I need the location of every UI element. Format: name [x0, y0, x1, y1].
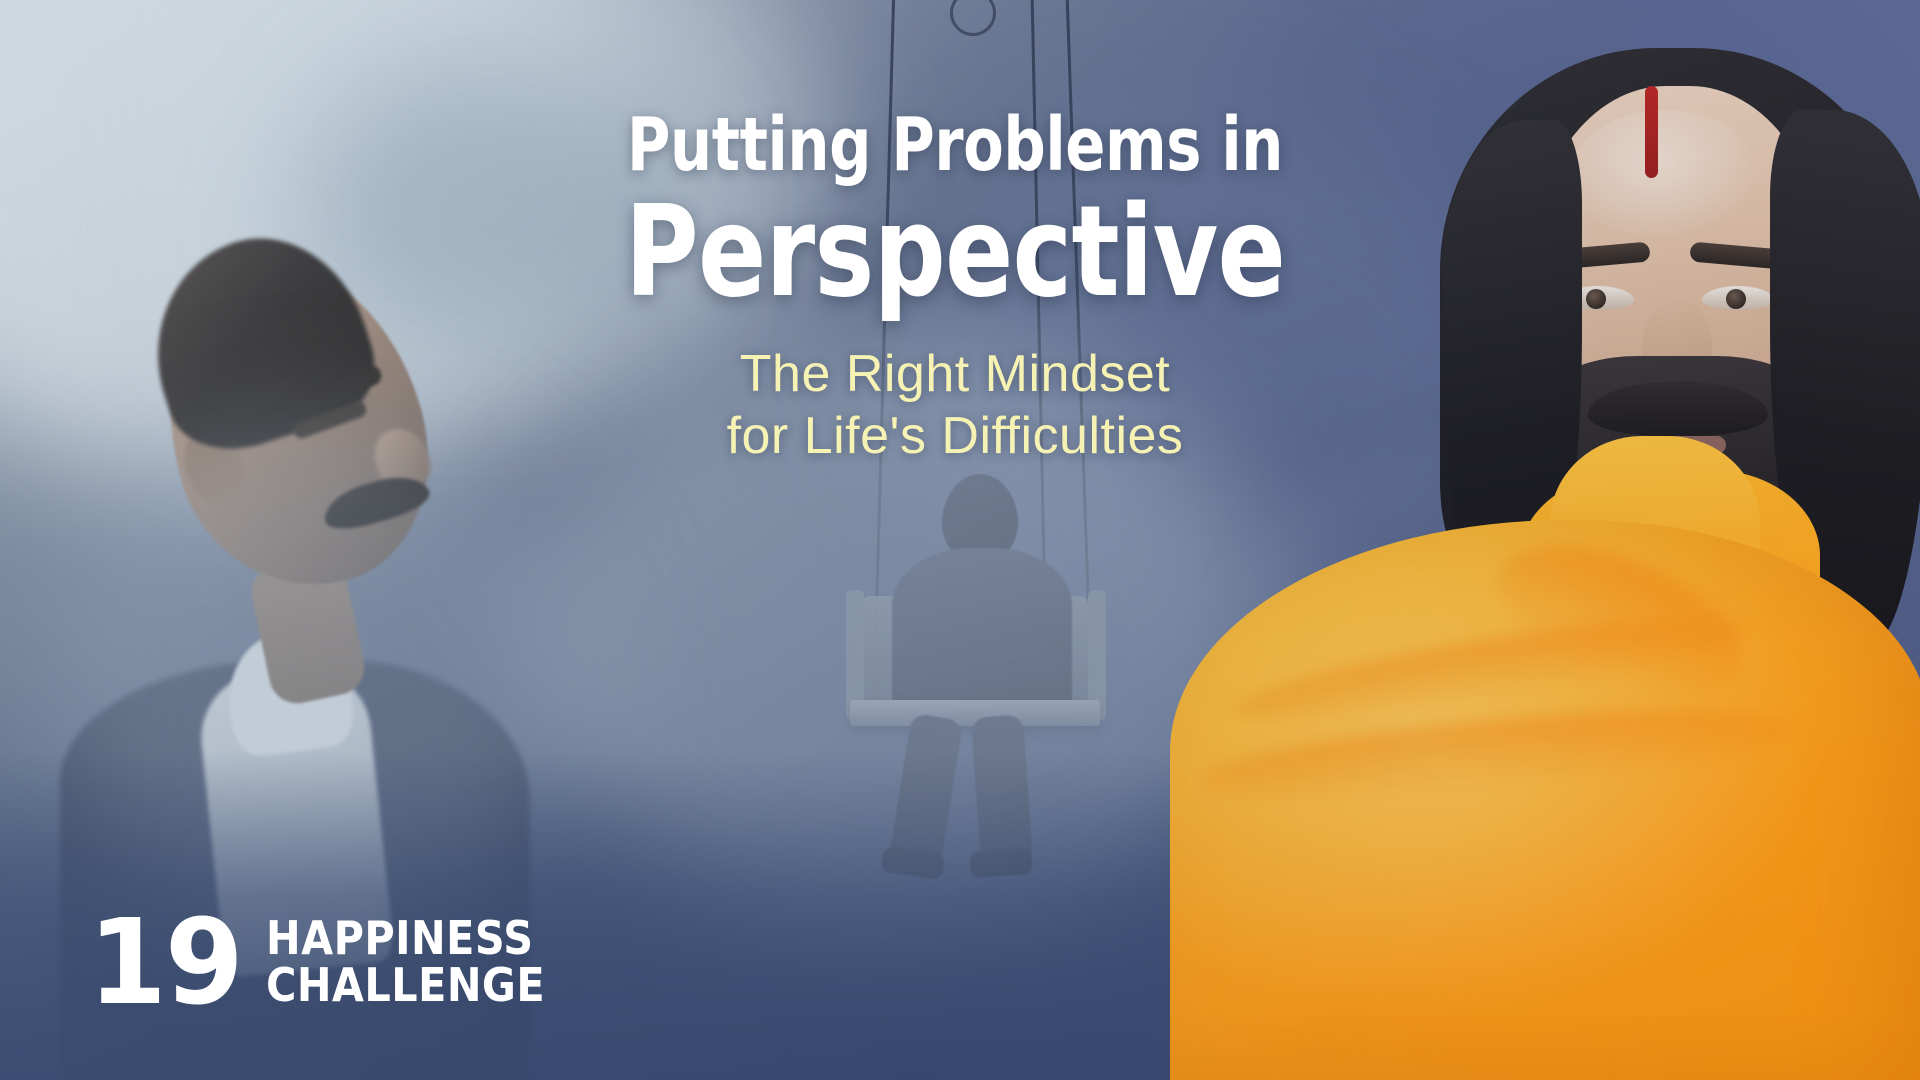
title-line-2: Perspective	[607, 188, 1303, 317]
logo-word-line-1: HAPPINESS	[266, 915, 545, 963]
monk-eye	[1702, 286, 1774, 310]
swing-rope-knot	[950, 0, 996, 36]
subtitle-line-2: for Life's Difficulties	[520, 405, 1390, 467]
monk-pupil	[1586, 289, 1606, 309]
subtitle-block: The Right Mindset for Life's Difficultie…	[520, 343, 1390, 468]
subtitle-line-1: The Right Mindset	[520, 343, 1390, 405]
monk-mustache	[1588, 382, 1768, 436]
swing-person-torso	[892, 548, 1072, 718]
logo-word-line-2: CHALLENGE	[266, 962, 545, 1010]
monk-pupil	[1726, 289, 1746, 309]
logo-wordmark: HAPPINESS CHALLENGE	[266, 915, 545, 1011]
title-line-1: Putting Problems in	[607, 108, 1303, 182]
happiness-challenge-logo: 19 HAPPINESS CHALLENGE	[88, 913, 576, 1012]
banner-image: Putting Problems in Perspective The Righ…	[0, 0, 1920, 1080]
tilak-mark	[1645, 86, 1658, 178]
headline-block: Putting Problems in Perspective The Righ…	[520, 108, 1390, 467]
logo-episode-number: 19	[88, 913, 242, 1012]
monk-forehead-highlight	[1570, 110, 1760, 240]
